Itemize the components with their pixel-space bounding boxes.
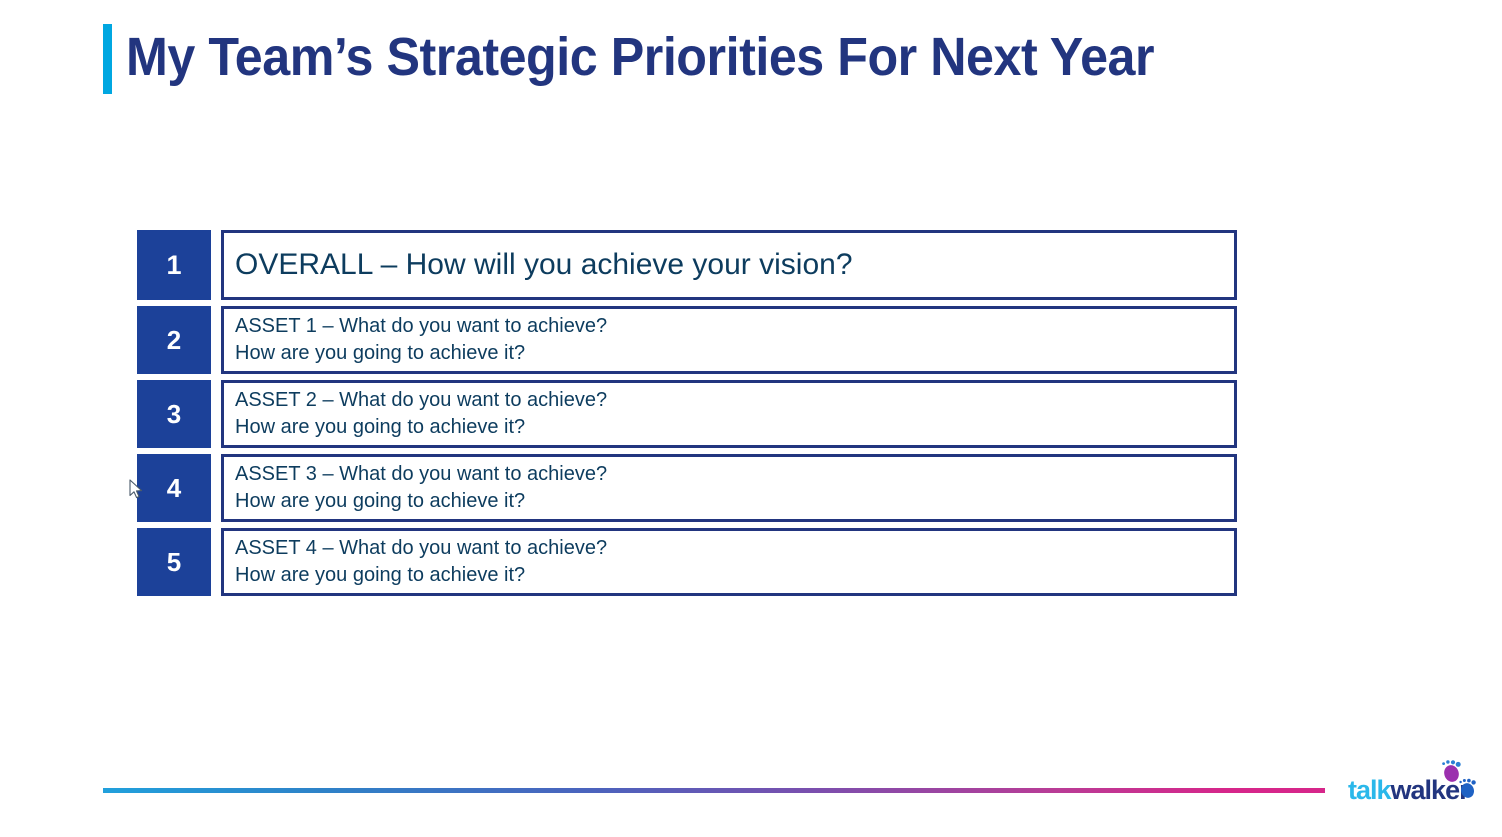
priority-line-primary: ASSET 4 – What do you want to achieve?	[235, 535, 1234, 562]
footprints-icon	[1436, 757, 1482, 803]
priority-line-primary: ASSET 1 – What do you want to achieve?	[235, 313, 1234, 340]
priority-line-secondary: How are you going to achieve it?	[235, 562, 1234, 589]
priority-line-primary: OVERALL – How will you achieve your visi…	[235, 246, 1234, 284]
priority-line-secondary: How are you going to achieve it?	[235, 488, 1234, 515]
talkwalker-logo[interactable]: talkwalker	[1348, 757, 1484, 807]
priority-number-badge: 2	[137, 306, 211, 374]
priority-line-primary: ASSET 3 – What do you want to achieve?	[235, 461, 1234, 488]
priority-line-secondary: How are you going to achieve it?	[235, 340, 1234, 367]
priority-row[interactable]: 2 ASSET 1 – What do you want to achieve?…	[137, 306, 1237, 374]
priority-row[interactable]: 5 ASSET 4 – What do you want to achieve?…	[137, 528, 1237, 596]
priority-content-box[interactable]: ASSET 1 – What do you want to achieve? H…	[221, 306, 1237, 374]
priority-number-badge: 3	[137, 380, 211, 448]
page-title: My Team’s Strategic Priorities For Next …	[103, 20, 1231, 94]
priority-content-box[interactable]: ASSET 2 – What do you want to achieve? H…	[221, 380, 1237, 448]
title-text: My Team’s Strategic Priorities For Next …	[126, 20, 1154, 94]
priority-line-primary: ASSET 2 – What do you want to achieve?	[235, 387, 1234, 414]
logo-word-talk: talk	[1348, 775, 1391, 805]
priority-number-badge: 5	[137, 528, 211, 596]
priorities-list: 1 OVERALL – How will you achieve your vi…	[137, 230, 1237, 602]
priority-row[interactable]: 3 ASSET 2 – What do you want to achieve?…	[137, 380, 1237, 448]
priority-content-box[interactable]: ASSET 4 – What do you want to achieve? H…	[221, 528, 1237, 596]
priority-row[interactable]: 1 OVERALL – How will you achieve your vi…	[137, 230, 1237, 300]
priority-row[interactable]: 4 ASSET 3 – What do you want to achieve?…	[137, 454, 1237, 522]
title-accent-bar	[103, 24, 112, 94]
footer-gradient-divider	[103, 788, 1325, 793]
slide-canvas: My Team’s Strategic Priorities For Next …	[0, 0, 1502, 837]
priority-number-badge: 1	[137, 230, 211, 300]
priority-number-badge: 4	[137, 454, 211, 522]
priority-line-secondary: How are you going to achieve it?	[235, 414, 1234, 441]
priority-content-box[interactable]: OVERALL – How will you achieve your visi…	[221, 230, 1237, 300]
priority-content-box[interactable]: ASSET 3 – What do you want to achieve? H…	[221, 454, 1237, 522]
